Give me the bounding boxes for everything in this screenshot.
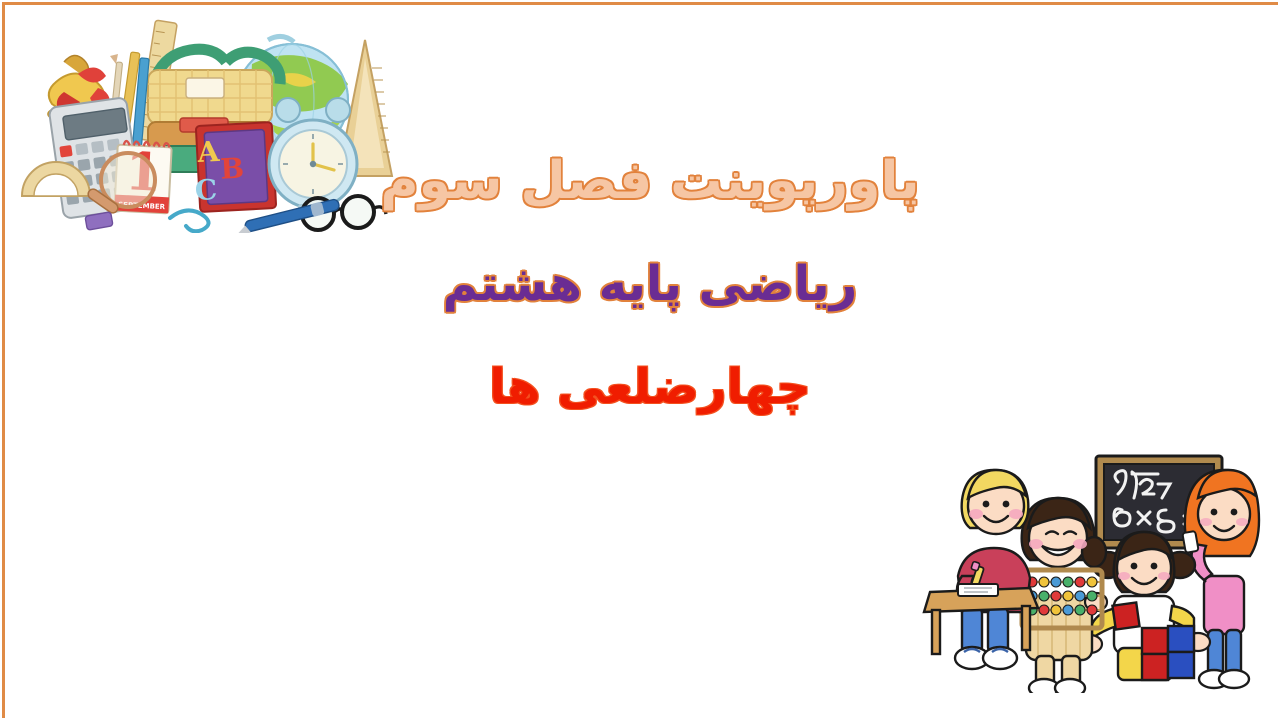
slide-border-top — [2, 2, 1278, 5]
title-line-topic: چهارضلعی ها — [330, 358, 970, 417]
svg-text:C: C — [194, 173, 218, 207]
svg-text:B: B — [220, 152, 245, 186]
paper-clip-icon — [170, 210, 209, 231]
slide-border-left — [2, 2, 5, 718]
presentation-slide: SEPTEMBER 1 A — [0, 0, 1280, 720]
abc-book-icon: A B C — [192, 122, 276, 212]
title-line-subject-grade: ریاضی پایه هشتم — [330, 255, 970, 314]
child-blond-boy — [955, 470, 1030, 669]
svg-text:A: A — [196, 135, 222, 169]
title-line-powerpoint-chapter: پاورپوینت فصل سوم — [330, 150, 970, 213]
students-classroom-clipart — [918, 448, 1263, 693]
slide-title-block: پاورپوینت فصل سوم ریاضی پایه هشتم چهارضل… — [330, 150, 970, 417]
